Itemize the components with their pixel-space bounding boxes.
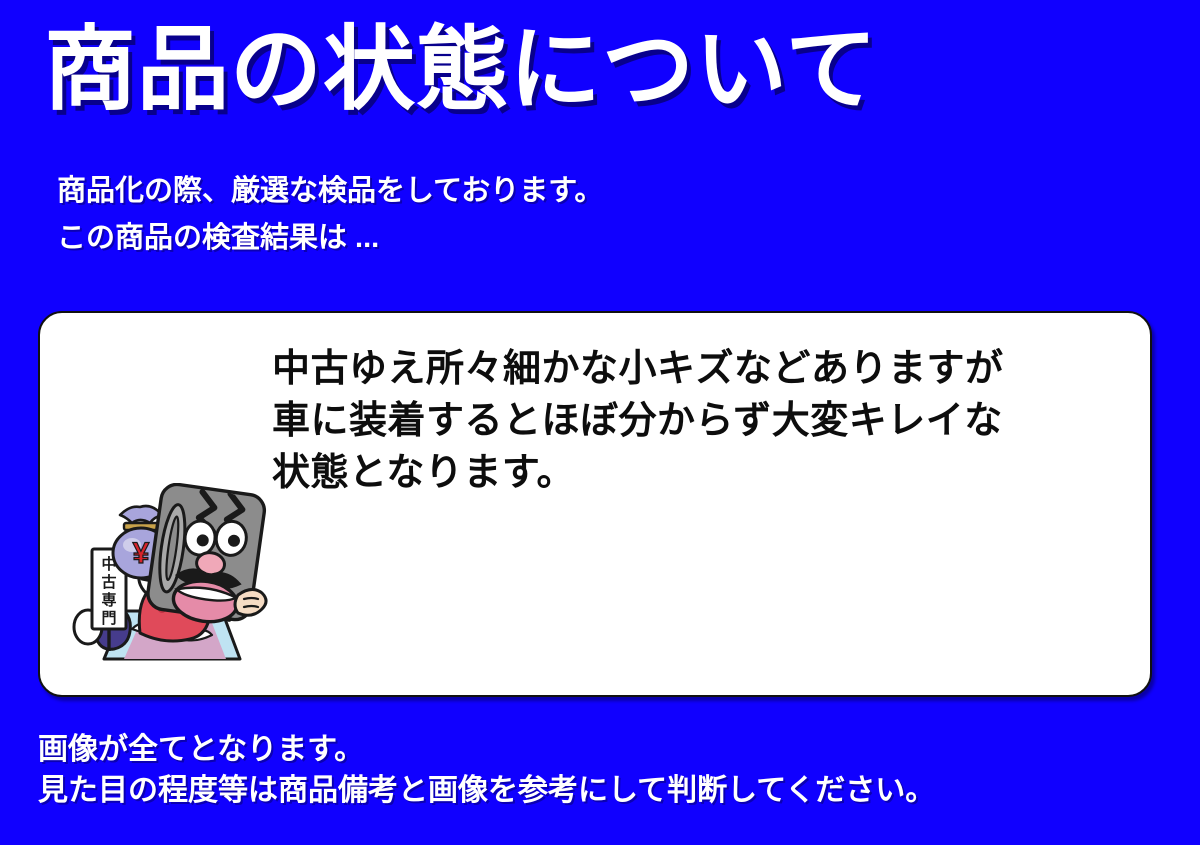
bottom-white-strip	[0, 845, 1200, 849]
condition-notice-poster: 商品の状態について 商品化の際、厳選な検品をしております。 この商品の検査結果は…	[0, 0, 1200, 845]
condition-card: 中古ゆえ所々細かな小キズなどありますが 車に装着するとほぼ分からず大変キレイな …	[38, 311, 1152, 697]
subtitle-line-1: 商品化の際、厳選な検品をしております。	[57, 168, 603, 215]
subtitle-block: 商品化の際、厳選な検品をしております。 この商品の検査結果は ...	[57, 168, 603, 262]
yen-symbol: ¥	[133, 537, 150, 570]
footer-line-1: 画像が全てとなります。	[38, 729, 935, 770]
condition-body-line-2: 車に装着するとほぼ分からず大変キレイな	[272, 395, 1004, 447]
page-title: 商品の状態について	[44, 18, 878, 122]
sign-char-3: 専	[101, 591, 116, 609]
tire-character-mascot-icon: 中 古 専 門 ¥	[62, 483, 272, 683]
mascot-hand-icon	[235, 589, 266, 615]
subtitle-line-2: この商品の検査結果は ...	[57, 215, 603, 262]
condition-body-text: 中古ゆえ所々細かな小キズなどありますが 車に装着するとほぼ分からず大変キレイな …	[272, 343, 1004, 499]
sign-char-4: 門	[101, 610, 116, 627]
sign-char-2: 古	[101, 573, 116, 591]
footer-note: 画像が全てとなります。 見た目の程度等は商品備考と画像を参考にして判断してくださ…	[38, 729, 935, 811]
condition-body-line-1: 中古ゆえ所々細かな小キズなどありますが	[272, 343, 1004, 395]
condition-body-line-3: 状態となります。	[272, 447, 1004, 499]
footer-line-2: 見た目の程度等は商品備考と画像を参考にして判断してください。	[38, 770, 935, 811]
